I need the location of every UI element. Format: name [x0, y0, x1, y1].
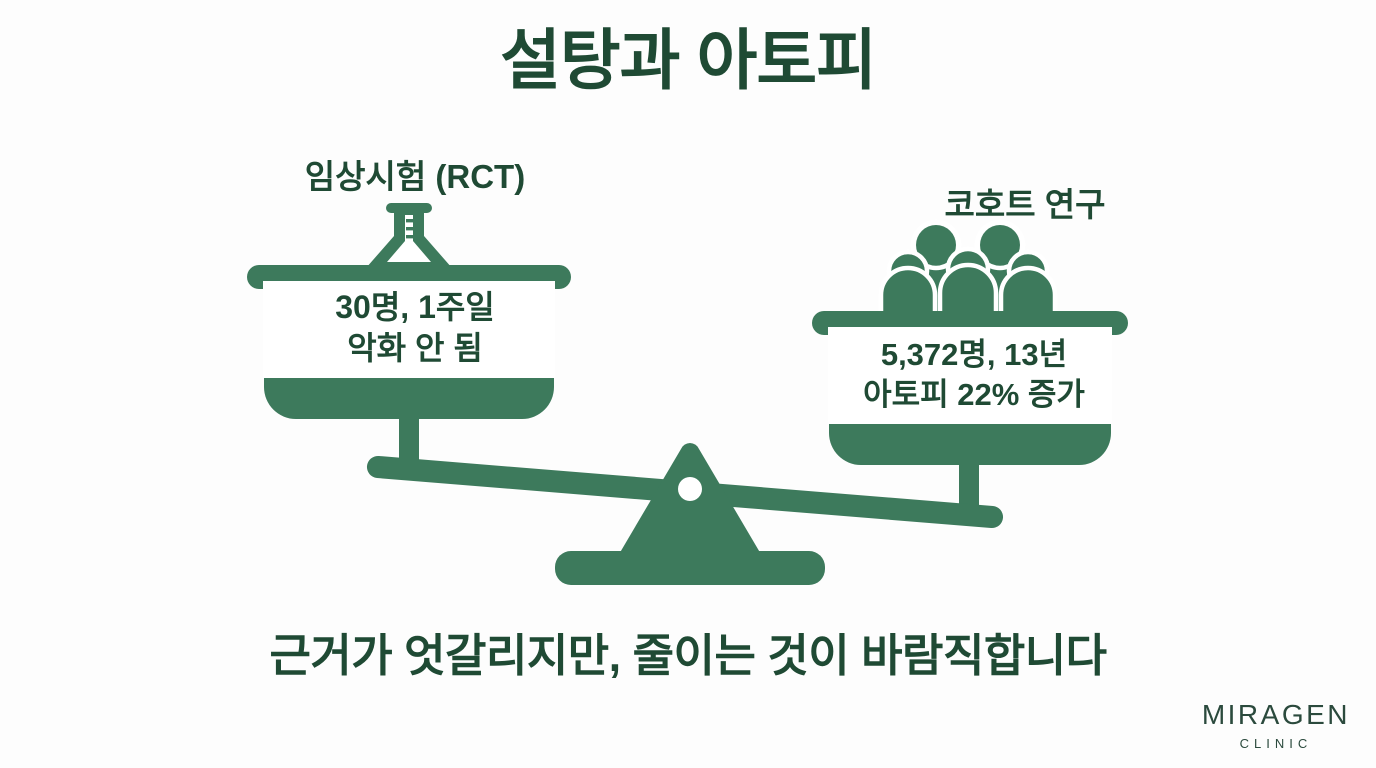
- logo-name: MIRAGEN: [1202, 701, 1350, 729]
- left-pan-stem: [399, 398, 419, 470]
- balance-beam: [367, 456, 1003, 528]
- right-pan-line-1: 5,372명, 13년: [881, 335, 1067, 375]
- flask-icon: [366, 203, 452, 268]
- fulcrum: [555, 443, 825, 585]
- right-pan-text: 5,372명, 13년 아토피 22% 증가: [828, 327, 1120, 423]
- infographic-canvas: 설탕과 아토피 임상시험 (RCT) 코호트 연구: [0, 0, 1376, 768]
- right-pan-line-2: 아토피 22% 증가: [863, 375, 1085, 415]
- brand-logo: MIRAGEN CLINIC: [1202, 701, 1350, 750]
- left-pan-line-2: 악화 안 됨: [347, 328, 483, 369]
- page-title: 설탕과 아토피: [0, 24, 1376, 97]
- logo-tagline: CLINIC: [1202, 737, 1350, 750]
- pivot-hole: [678, 477, 702, 501]
- left-pan-label: 임상시험 (RCT): [200, 150, 630, 198]
- people-group-icon: [881, 222, 1055, 315]
- left-pan-text: 30명, 1주일 악화 안 됨: [263, 281, 567, 375]
- right-pan-stem: [959, 444, 979, 512]
- right-pan-label: 코호트 연구: [830, 178, 1220, 226]
- caption-text: 근거가 엇갈리지만, 줄이는 것이 바람직합니다: [0, 619, 1376, 684]
- left-pan-line-1: 30명, 1주일: [335, 287, 495, 328]
